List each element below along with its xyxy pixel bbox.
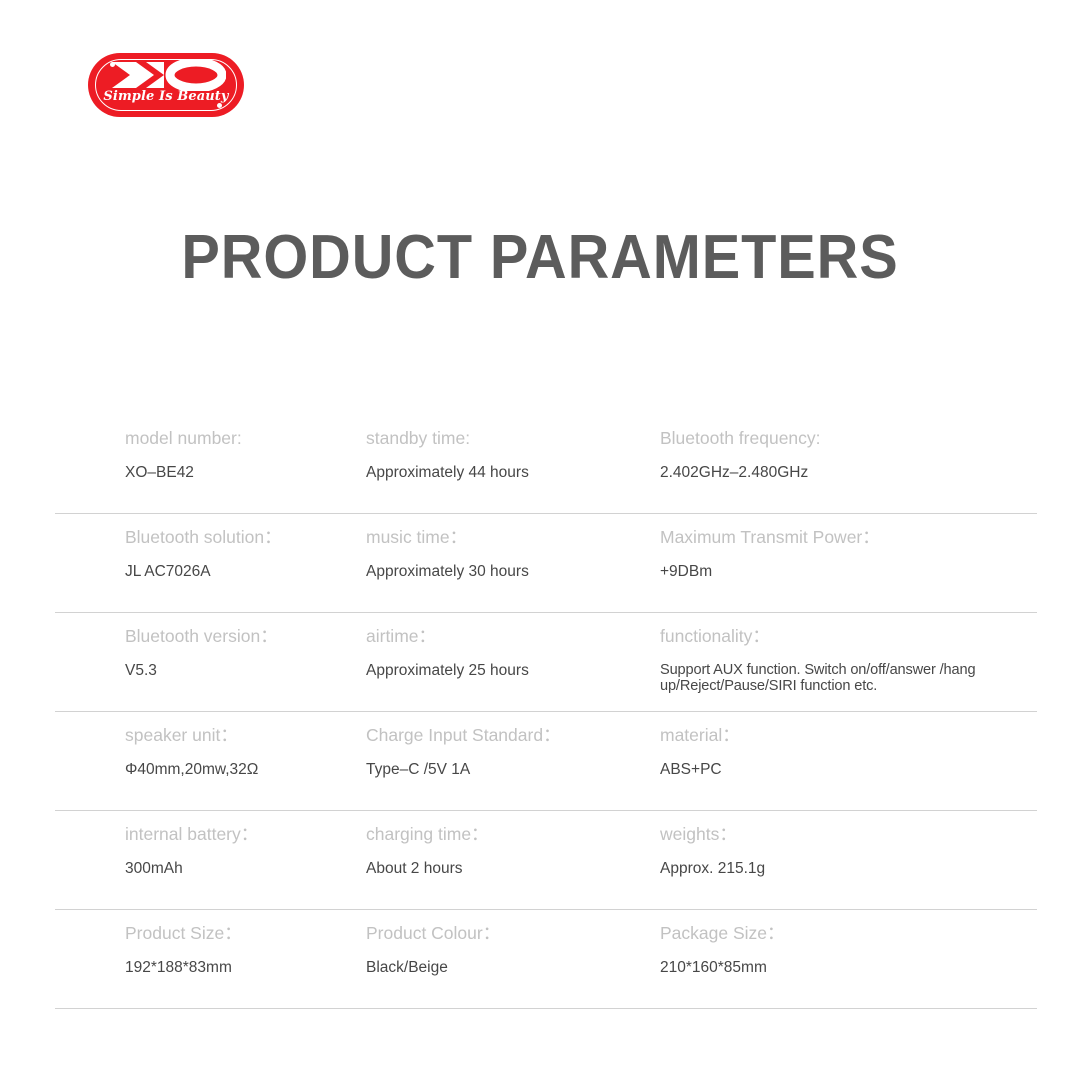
spec-label: Bluetooth solution：	[125, 527, 353, 548]
table-row: model number: XO–BE42 standby time: Appr…	[55, 415, 1037, 514]
page-title: PRODUCT PARAMETERS	[38, 222, 1042, 293]
spec-value: 2.402GHz–2.480GHz	[660, 464, 1037, 483]
spec-value: 300mAh	[125, 860, 353, 879]
spec-cell: standby time: Approximately 44 hours	[353, 415, 650, 513]
spec-value: V5.3	[125, 662, 353, 681]
spec-cell: Bluetooth frequency: 2.402GHz–2.480GHz	[650, 415, 1037, 513]
spec-value: Approx. 215.1g	[660, 860, 1037, 879]
spec-label: material：	[660, 725, 1037, 746]
spec-label: functionality：	[660, 626, 1037, 647]
spec-cell: airtime： Approximately 25 hours	[353, 613, 650, 711]
spec-label: Bluetooth frequency:	[660, 428, 1037, 449]
spec-value: 192*188*83mm	[125, 959, 353, 978]
spec-cell: Charge Input Standard： Type–C /5V 1A	[353, 712, 650, 810]
spec-label: airtime：	[366, 626, 650, 647]
table-row: Bluetooth solution： JL AC7026A music tim…	[55, 514, 1037, 613]
spec-cell: Product Colour： Black/Beige	[353, 910, 650, 1008]
spec-value: Type–C /5V 1A	[366, 761, 650, 780]
spec-value: ABS+PC	[660, 761, 1037, 780]
spec-label: music time：	[366, 527, 650, 548]
spec-label: internal battery：	[125, 824, 353, 845]
table-row: Bluetooth version： V5.3 airtime： Approxi…	[55, 613, 1037, 712]
spec-cell: Bluetooth version： V5.3	[55, 613, 353, 711]
spec-cell: material： ABS+PC	[650, 712, 1037, 810]
spec-label: Charge Input Standard：	[366, 725, 650, 746]
spec-value: About 2 hours	[366, 860, 650, 879]
spec-label: Bluetooth version：	[125, 626, 353, 647]
spec-cell: Bluetooth solution： JL AC7026A	[55, 514, 353, 612]
spec-label: standby time:	[366, 428, 650, 449]
logo-tagline: Simple Is Beauty	[88, 89, 244, 104]
spec-label: weights：	[660, 824, 1037, 845]
spec-cell: speaker unit： Φ40mm,20mw,32Ω	[55, 712, 353, 810]
spec-cell: music time： Approximately 30 hours	[353, 514, 650, 612]
spec-value: +9DBm	[660, 563, 1037, 582]
spec-label: speaker unit：	[125, 725, 353, 746]
spec-label: charging time：	[366, 824, 650, 845]
spec-cell: Maximum Transmit Power： +9DBm	[650, 514, 1037, 612]
product-parameters-table: model number: XO–BE42 standby time: Appr…	[55, 415, 1037, 1009]
spec-value: Approximately 30 hours	[366, 563, 650, 582]
spec-cell: internal battery： 300mAh	[55, 811, 353, 909]
brand-logo: Simple Is Beauty	[88, 53, 244, 117]
spec-value: JL AC7026A	[125, 563, 353, 582]
spec-cell: Package Size： 210*160*85mm	[650, 910, 1037, 1008]
spec-value: Φ40mm,20mw,32Ω	[125, 761, 353, 780]
logo-wordmark-xo	[88, 59, 244, 93]
spec-cell: model number: XO–BE42	[55, 415, 353, 513]
spec-cell: charging time： About 2 hours	[353, 811, 650, 909]
spec-cell: Product Size： 192*188*83mm	[55, 910, 353, 1008]
spec-value: Black/Beige	[366, 959, 650, 978]
table-row: Product Size： 192*188*83mm Product Colou…	[55, 910, 1037, 1009]
spec-label: Product Colour：	[366, 923, 650, 944]
spec-label: Product Size：	[125, 923, 353, 944]
spec-label: Package Size：	[660, 923, 1037, 944]
spec-cell: weights： Approx. 215.1g	[650, 811, 1037, 909]
spec-label: model number:	[125, 428, 353, 449]
table-row: speaker unit： Φ40mm,20mw,32Ω Charge Inpu…	[55, 712, 1037, 811]
spec-label: Maximum Transmit Power：	[660, 527, 1037, 548]
spec-value: XO–BE42	[125, 464, 353, 483]
table-row: internal battery： 300mAh charging time： …	[55, 811, 1037, 910]
spec-cell: functionality： Support AUX function. Swi…	[650, 613, 1037, 711]
spec-value: Approximately 44 hours	[366, 464, 650, 483]
spec-value: Approximately 25 hours	[366, 662, 650, 681]
spec-value: Support AUX function. Switch on/off/answ…	[660, 662, 1000, 695]
spec-value: 210*160*85mm	[660, 959, 1037, 978]
